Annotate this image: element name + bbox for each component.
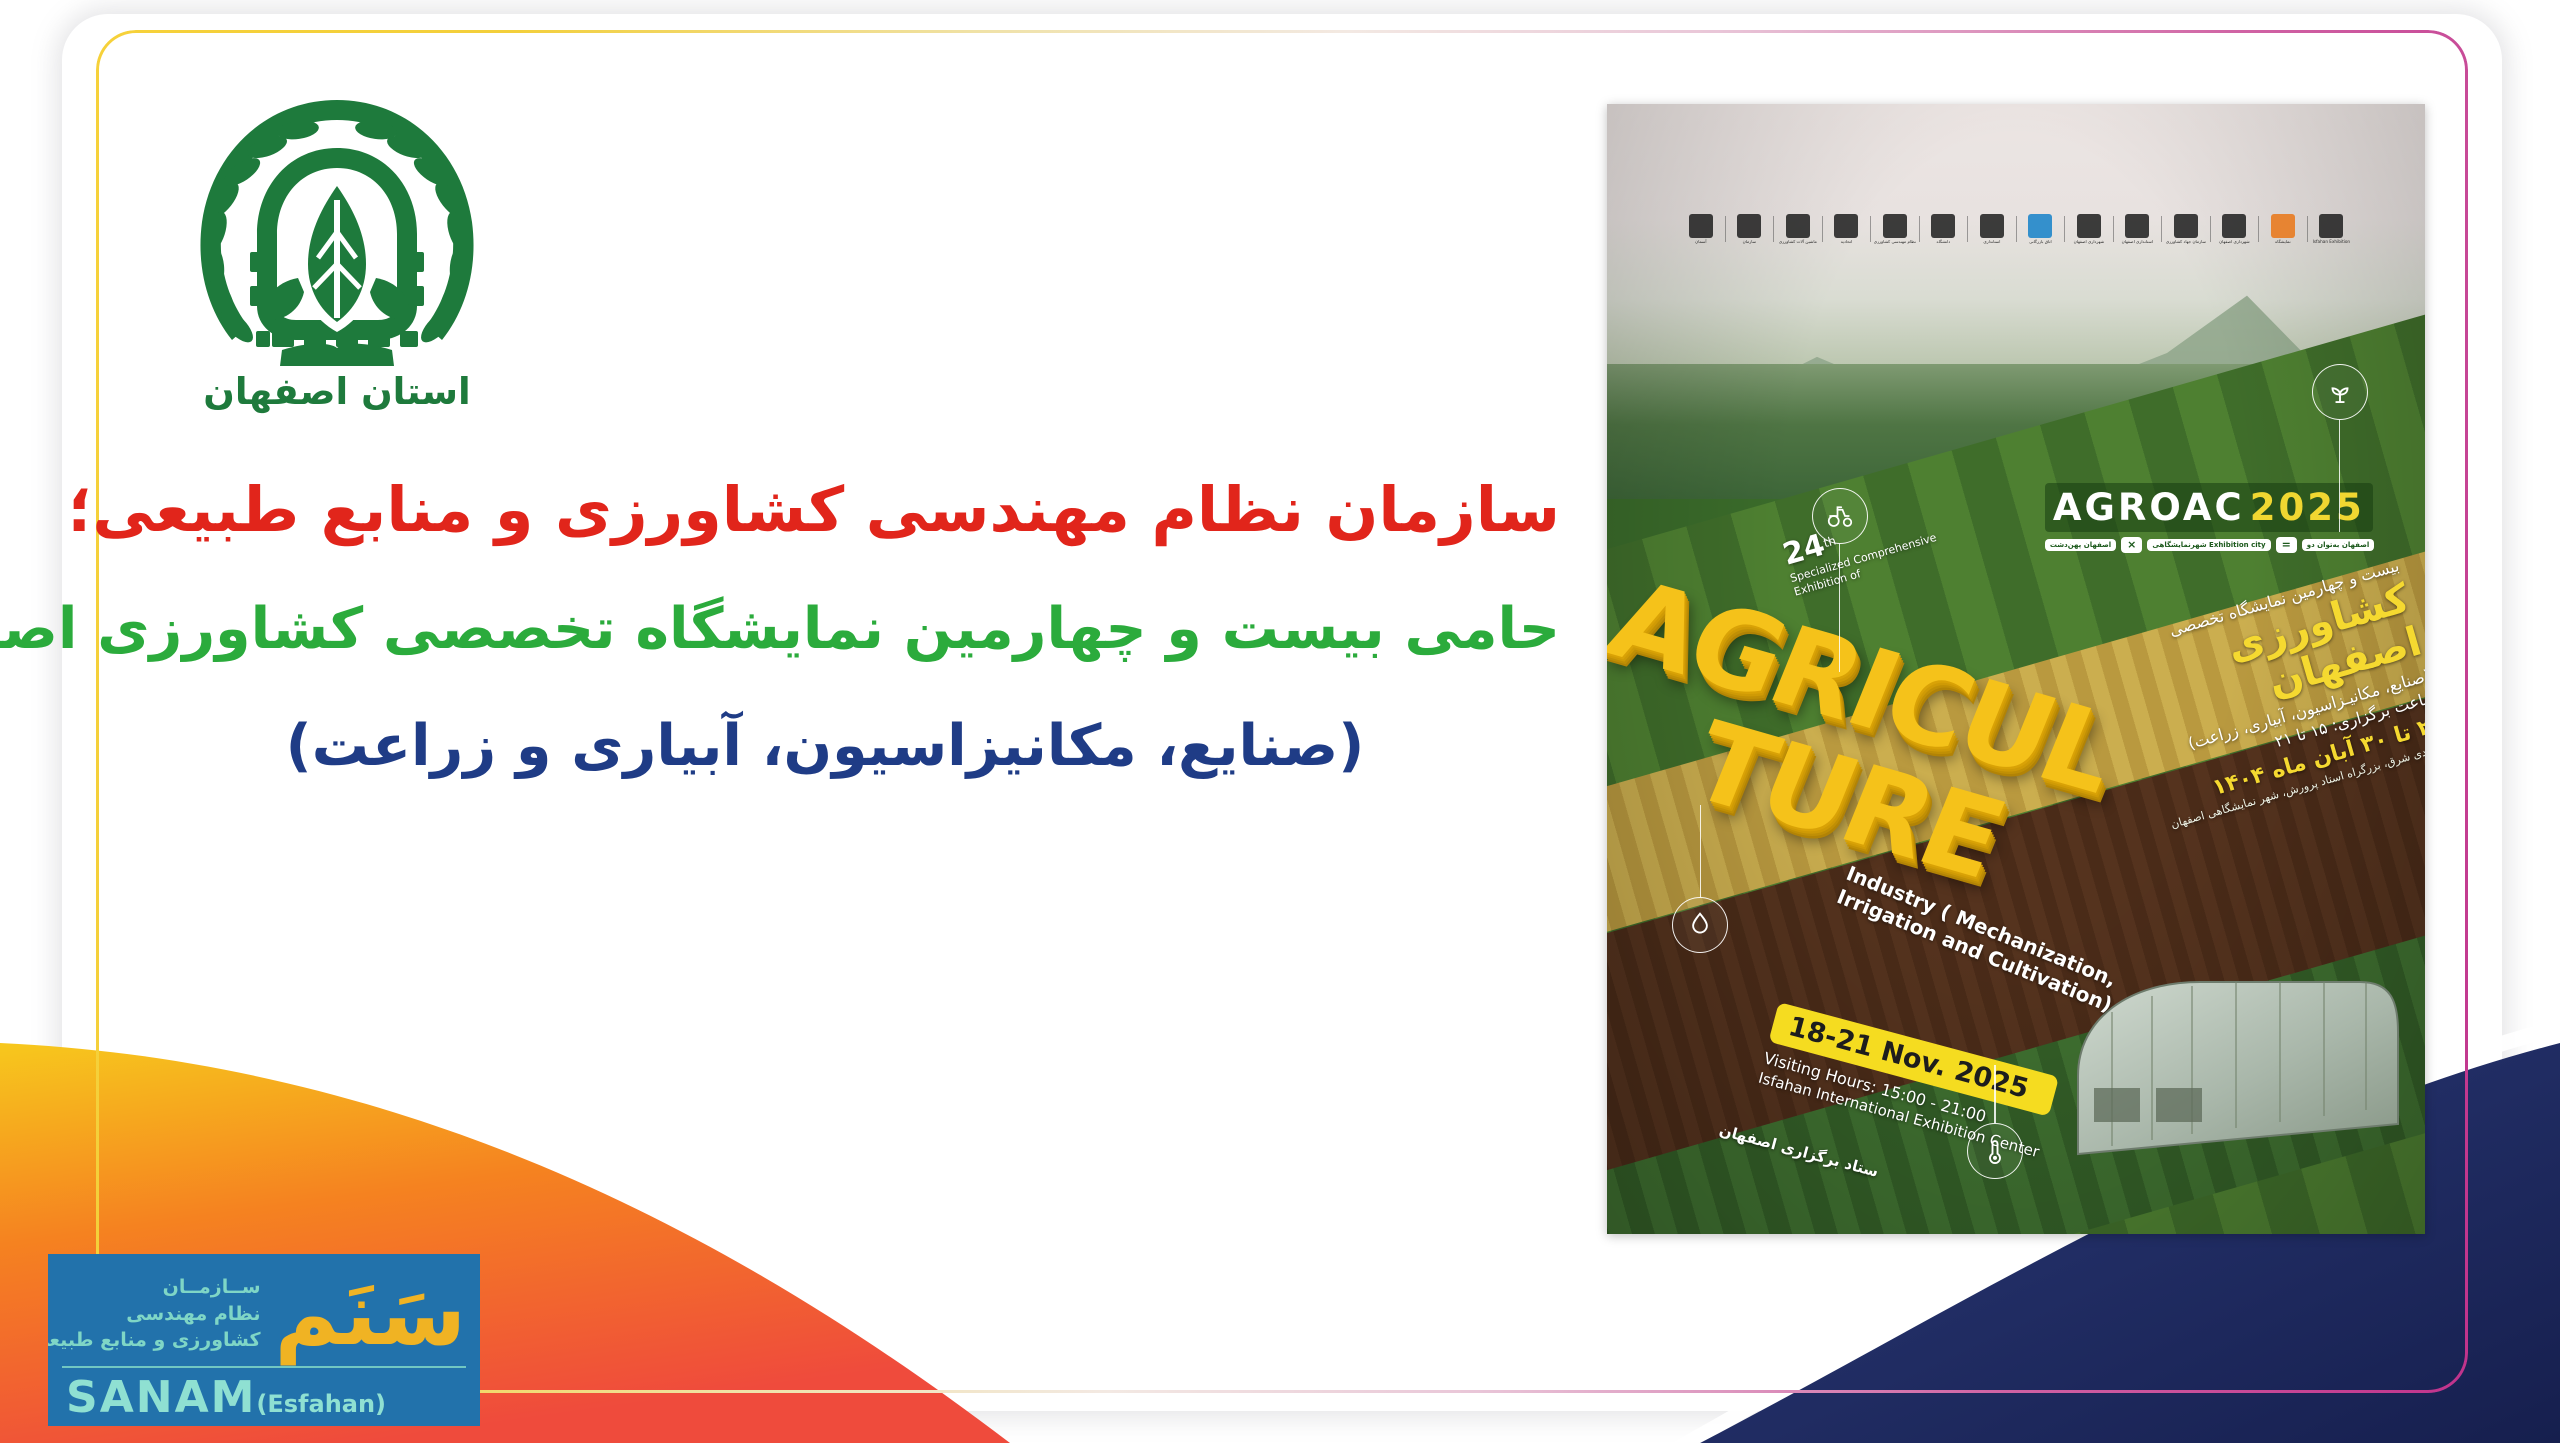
sponsor-divider	[1773, 216, 1774, 242]
agromac-word-1: AGRO	[2053, 486, 2183, 529]
sponsor-logo: استانداری اصفهان	[2117, 214, 2157, 245]
slide-canvas: استان اصفهان سازمان نظام مهندسی کشاورزی …	[0, 0, 2560, 1443]
sponsor-divider	[2016, 216, 2017, 242]
tractor-pin	[1812, 488, 1868, 672]
emblem-caption: استان اصفهان	[172, 370, 502, 413]
sponsor-caption: استانداری	[1983, 240, 2000, 245]
agromac-equation-pills: اصفهان پهن‌دشت × شهرنمایشگاهی Exhibition…	[2045, 537, 2374, 554]
headline-block: سازمان نظام مهندسی کشاورزی و منابع طبیعی…	[90, 470, 1560, 783]
sponsor-caption: استانداری اصفهان	[2122, 240, 2154, 245]
sponsor-mark-icon	[1689, 214, 1713, 238]
sponsor-divider	[1870, 216, 1871, 242]
sponsor-mark-icon	[2077, 214, 2101, 238]
tractor-icon	[1812, 488, 1868, 544]
sponsor-caption: اتحادیه	[1841, 240, 1853, 245]
sponsor-caption: دانشگاه	[1937, 240, 1951, 245]
sponsor-divider	[2307, 216, 2308, 242]
sanam-fa-line-2: نظام مهندسی	[48, 1301, 261, 1328]
sponsor-divider	[1725, 216, 1726, 242]
pill-equals: =	[2276, 537, 2297, 554]
poster-sponsor-logos: Isfahan Exhibition نمایشگاه شهرداری اصفه…	[1681, 208, 2352, 250]
pill-times: ×	[2121, 537, 2142, 554]
sponsor-logo: دانشگاه	[1923, 214, 1963, 245]
sponsor-divider	[1967, 216, 1968, 242]
sponsor-mark-icon	[2222, 214, 2246, 238]
sponsor-logo: نظام مهندسی کشاورزی	[1875, 214, 1915, 245]
headline-line-3: (صنایع، مکانیزاسیون، آبیاری و زراعت)	[90, 710, 1560, 783]
sanam-english-wordmark: SANAM(Esfahan)	[48, 1368, 480, 1423]
sanam-esfahan-badge[interactable]: سَنَم ســازمــان نظام مهندسی کشاورزی و م…	[48, 1254, 480, 1426]
sponsor-logo: اتاق بازرگانی	[2020, 214, 2060, 245]
sponsor-logo: نمایشگاه	[2263, 214, 2303, 245]
pill-left: اصفهان پهن‌دشت	[2045, 539, 2116, 551]
sponsor-mark-icon	[1883, 214, 1907, 238]
sponsor-logo: شهرداری اصفهان	[2069, 214, 2109, 245]
organization-emblem-icon	[172, 82, 502, 392]
sanam-fa-line-3: کشاورزی و منابع طبیعی اصفهان	[48, 1327, 261, 1354]
sponsor-mark-icon	[1834, 214, 1858, 238]
sponsor-logo: آسمان	[1681, 214, 1721, 245]
sponsor-mark-icon	[2028, 214, 2052, 238]
agromac-word-2: AC	[2183, 486, 2245, 529]
sponsor-caption: Isfahan Exhibition	[2313, 240, 2350, 245]
sponsor-mark-icon	[1737, 214, 1761, 238]
water-drop-pin	[1672, 805, 1728, 953]
sponsor-logo: سازمان جهاد کشاورزی	[2166, 214, 2206, 245]
sponsor-mark-icon	[1786, 214, 1810, 238]
sanam-persian-lines: ســازمــان نظام مهندسی کشاورزی و منابع ط…	[48, 1274, 261, 1355]
sponsor-divider	[2258, 216, 2259, 242]
sanam-gold-wordmark: سَنَم	[275, 1272, 466, 1356]
sanam-en-main: SANAM	[66, 1372, 256, 1423]
sponsor-logo: سازمان	[1729, 214, 1769, 245]
exhibition-poster-image[interactable]: Isfahan Exhibition نمایشگاه شهرداری اصفه…	[1607, 104, 2425, 1234]
headline-line-1: سازمان نظام مهندسی کشاورزی و منابع طبیعی…	[90, 470, 1560, 549]
sponsor-caption: شهرداری اصفهان	[2219, 240, 2250, 245]
sponsor-caption: سازمان جهاد کشاورزی	[2166, 240, 2206, 245]
sponsor-caption: نمایشگاه	[2275, 240, 2291, 245]
thermometer-icon	[1967, 1123, 2023, 1179]
headline-line-2: حامی بیست و چهارمین نمایشگاه تخصصی کشاور…	[90, 593, 1560, 666]
sanam-fa-line-1: ســازمــان	[48, 1274, 261, 1301]
sprout-pin	[2312, 364, 2368, 532]
sponsor-mark-icon	[1931, 214, 1955, 238]
sponsor-mark-icon	[2319, 214, 2343, 238]
sponsor-logo: شهرداری اصفهان	[2214, 214, 2254, 245]
pill-right: اصفهان به‌توان دو	[2302, 539, 2375, 551]
sanam-divider	[62, 1366, 466, 1368]
water-drop-icon	[1672, 897, 1728, 953]
thermometer-pin	[1967, 1065, 2023, 1179]
sponsor-mark-icon	[2174, 214, 2198, 238]
sprout-icon	[2312, 364, 2368, 420]
pill-middle: شهرنمایشگاهی Exhibition city	[2147, 539, 2270, 551]
sponsor-caption: نظام مهندسی کشاورزی	[1874, 240, 1916, 245]
sponsor-divider	[2064, 216, 2065, 242]
sponsor-mark-icon	[1980, 214, 2004, 238]
sponsor-logo: Isfahan Exhibition	[2311, 214, 2351, 245]
sanam-en-paren: (Esfahan)	[256, 1390, 386, 1418]
sponsor-caption: سازمان	[1743, 240, 1756, 245]
sponsor-divider	[1822, 216, 1823, 242]
sanam-top-row: سَنَم ســازمــان نظام مهندسی کشاورزی و م…	[48, 1254, 480, 1366]
sponsor-logo: اتحادیه	[1826, 214, 1866, 245]
sponsor-logo: استانداری	[1972, 214, 2012, 245]
sponsor-caption: ماشین آلات کشاورزی	[1779, 240, 1817, 245]
sponsor-divider	[1919, 216, 1920, 242]
sponsor-caption: شهرداری اصفهان	[2074, 240, 2105, 245]
sponsor-caption: آسمان	[1695, 240, 1706, 245]
sponsor-divider	[2113, 216, 2114, 242]
sponsor-mark-icon	[2125, 214, 2149, 238]
sponsor-caption: اتاق بازرگانی	[2029, 240, 2052, 245]
sponsor-mark-icon	[2271, 214, 2295, 238]
sponsor-divider	[2210, 216, 2211, 242]
sponsor-logo: ماشین آلات کشاورزی	[1778, 214, 1818, 245]
sponsor-divider	[2161, 216, 2162, 242]
